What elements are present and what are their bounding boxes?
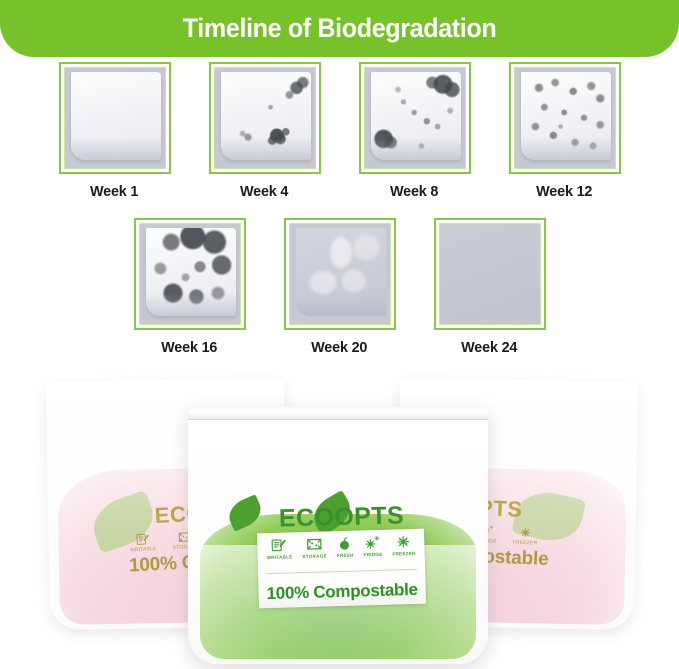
freezer-icon: FREEZER — [513, 526, 539, 547]
biodegradation-timeline: Week 1 Week 4 Week 8 — [0, 62, 679, 356]
bag-zip-seal — [188, 406, 488, 420]
timeline-label: Week 24 — [461, 339, 517, 356]
feature-label: FREEZER — [392, 550, 415, 556]
timeline-label: Week 4 — [240, 183, 288, 200]
storage-icon: STORAGE — [302, 536, 327, 558]
sample-photo-week-1 — [64, 67, 166, 169]
feature-icons-center: WRITABLE STORAGE FRESH — [263, 534, 419, 560]
label-divider — [266, 569, 417, 574]
feature-label: FRIDGE — [364, 551, 383, 557]
thumbnail-frame — [134, 218, 246, 330]
sample-photo-week-16 — [139, 223, 241, 325]
fresh-icon: FRESH — [336, 536, 354, 558]
timeline-item-week-16[interactable]: Week 16 — [134, 218, 246, 356]
timeline-row-2: Week 16 Week 20 Week 24 — [0, 218, 679, 356]
feature-label: WRITABLE — [267, 554, 293, 560]
fridge-icon: FRIDGE — [363, 535, 382, 557]
timeline-label: Week 12 — [536, 183, 592, 200]
sample-photo-week-4 — [214, 67, 316, 169]
freezer-icon: FREEZER — [392, 534, 416, 556]
thumbnail-frame — [284, 218, 396, 330]
sample-photo-week-8 — [364, 67, 466, 169]
header-banner: Timeline of Biodegradation — [0, 0, 679, 57]
timeline-row-1: Week 1 Week 4 Week 8 — [0, 62, 679, 200]
compostable-text-center: 100% Compostable — [264, 581, 419, 604]
thumbnail-frame — [359, 62, 471, 174]
timeline-label: Week 16 — [161, 339, 217, 356]
timeline-item-week-20[interactable]: Week 20 — [284, 218, 396, 356]
feature-label: WRITABLE — [130, 546, 157, 553]
feature-label: FREEZER — [513, 540, 538, 547]
feature-label: FRESH — [337, 552, 354, 557]
sample-photo-week-12 — [514, 67, 616, 169]
timeline-item-week-24[interactable]: Week 24 — [434, 218, 546, 356]
writable-icon: WRITABLE — [129, 532, 157, 553]
compostable-label: WRITABLE STORAGE FRESH — [257, 529, 426, 609]
timeline-item-week-4[interactable]: Week 4 — [209, 62, 321, 200]
thumbnail-frame — [509, 62, 621, 174]
timeline-label: Week 20 — [311, 339, 367, 356]
thumbnail-frame — [209, 62, 321, 174]
timeline-label: Week 8 — [390, 183, 438, 200]
feature-label: STORAGE — [302, 553, 327, 559]
writable-icon: WRITABLE — [266, 537, 292, 559]
sample-photo-week-20 — [289, 223, 391, 325]
thumbnail-frame — [434, 218, 546, 330]
page-title: Timeline of Biodegradation — [183, 13, 497, 44]
timeline-item-week-12[interactable]: Week 12 — [509, 62, 621, 200]
timeline-item-week-1[interactable]: Week 1 — [59, 62, 171, 200]
sample-photo-week-24 — [439, 223, 541, 325]
timeline-label: Week 1 — [90, 183, 138, 200]
thumbnail-frame — [59, 62, 171, 174]
timeline-item-week-8[interactable]: Week 8 — [359, 62, 471, 200]
